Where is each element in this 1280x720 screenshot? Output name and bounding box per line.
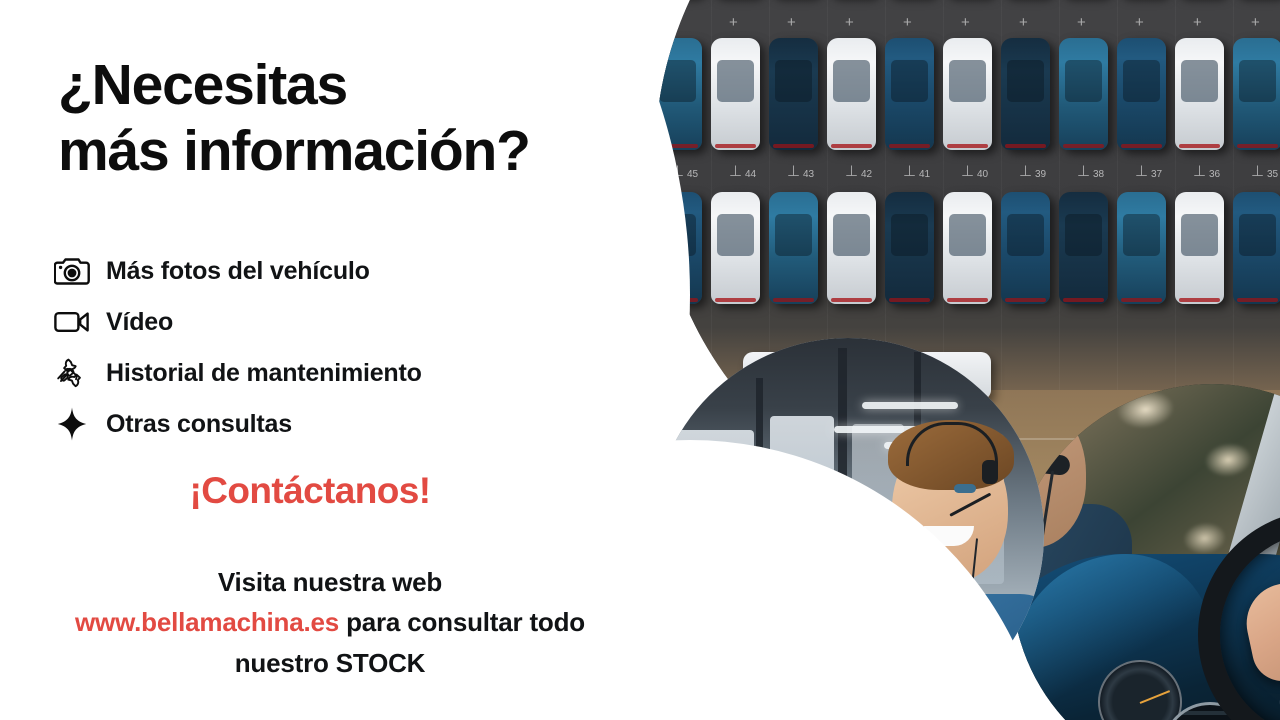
website-line-2-rest: para consultar todo: [339, 607, 585, 637]
content-column: ¿Necesitas más información? Más fotos de…: [0, 0, 680, 720]
list-item: Más fotos del vehículo: [52, 250, 422, 292]
list-item: Otras consultas: [52, 403, 422, 445]
page-title: ¿Necesitas más información?: [58, 52, 530, 184]
feature-label: Vídeo: [106, 308, 173, 337]
list-item: Historial de mantenimiento: [52, 352, 422, 394]
feature-list: Más fotos del vehículo Vídeo: [52, 250, 422, 445]
website-block: Visita nuestra web www.bellamachina.es p…: [0, 562, 660, 683]
promo-banner: + + + + + + + + + + + + + +: [0, 0, 1280, 720]
list-item: Vídeo: [52, 301, 422, 343]
contact-cta-label: ¡Contáctanos!: [190, 470, 431, 511]
website-line-3: nuestro STOCK: [0, 643, 660, 683]
wrench-hand-icon: [52, 354, 92, 392]
feature-label: Historial de mantenimiento: [106, 359, 422, 388]
feature-label: Más fotos del vehículo: [106, 257, 370, 286]
driving-photo: [1012, 384, 1280, 720]
website-line-2: www.bellamachina.es para consultar todo: [0, 602, 660, 642]
feature-label: Otras consultas: [106, 410, 292, 439]
headline-line-2: más información?: [58, 118, 530, 184]
camera-icon: [52, 252, 92, 290]
video-camera-icon: [52, 303, 92, 341]
headline-line-1: ¿Necesitas: [58, 53, 347, 117]
sparkle-icon: [52, 405, 92, 443]
website-url[interactable]: www.bellamachina.es: [75, 607, 339, 637]
contact-cta[interactable]: ¡Contáctanos!: [0, 470, 620, 512]
website-line-1: Visita nuestra web: [0, 562, 660, 602]
